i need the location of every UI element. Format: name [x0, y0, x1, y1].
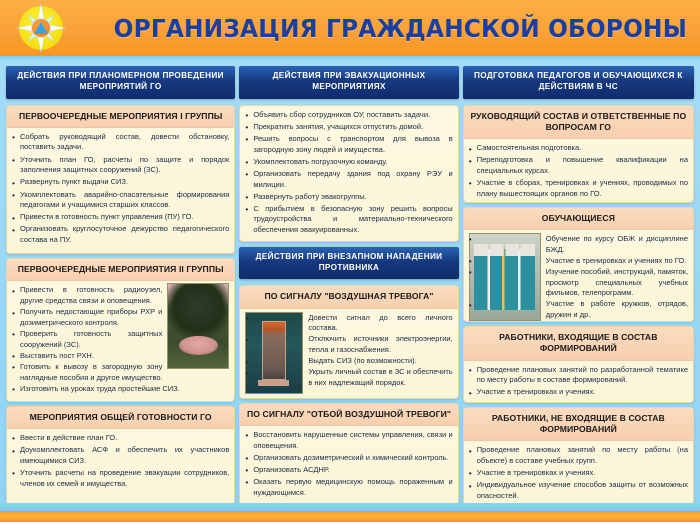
list-item: Укомплектовать аварийно-спасательные фор…: [12, 190, 229, 211]
list-item: Выдать СИЗ (по возможности).: [245, 356, 452, 367]
list-item: Довести сигнал до всего личного состава.: [245, 313, 452, 334]
column-2-banner: ДЕЙСТВИЯ ПРИ ЭВАКУАЦИОННЫХ МЕРОПРИЯТИЯХ: [239, 66, 458, 99]
list-item: Организовать АСДНР.: [245, 465, 452, 476]
list-item: Проверить готовность защитных сооружений…: [12, 329, 229, 350]
list-item: Участие в сборах, тренировках и учениях,…: [469, 178, 688, 199]
poster-root: ОРГАНИЗАЦИЯ ГРАЖДАНСКОЙ ОБОРОНЫ ДЕЙСТВИЯ…: [0, 0, 700, 525]
section-heading: РАБОТНИКИ, НЕ ВХОДЯЩИЕ В СОСТАВ ФОРМИРОВ…: [464, 408, 693, 441]
list-item: Собрать руководящий состав, довести обст…: [12, 132, 229, 153]
bullet-list: Самостоятельная подготовка. Переподготов…: [464, 139, 693, 203]
card-first-priority-group-2: ПЕРВООЧЕРЕДНЫЕ МЕРОПРИЯТИЯ II ГРУППЫ При…: [6, 258, 235, 402]
list-item: Организовать передачу здания под охрану …: [245, 169, 452, 190]
section-heading: ПЕРВООЧЕРЕДНЫЕ МЕРОПРИЯТИЯ II ГРУППЫ: [7, 259, 234, 281]
bullet-list: Собрать руководящий состав, довести обст…: [7, 128, 234, 249]
bullet-list: Проведение плановых занятий по месту раб…: [464, 441, 693, 505]
list-item: Доукомплектовать АСФ и обеспечить их уча…: [12, 445, 229, 466]
content-columns: ДЕЙСТВИЯ ПРИ ПЛАНОМЕРНОМ ПРОВЕДЕНИИ МЕРО…: [0, 61, 700, 505]
list-item: Организовать круглосуточное дежурство пе…: [12, 224, 229, 245]
card-air-raid-alarm: ПО СИГНАЛУ "ВОЗДУШНАЯ ТРЕВОГА" Довести с…: [239, 285, 458, 398]
list-item: Участие в тренировках и учениях по ГО.: [469, 256, 688, 267]
list-item: Укрыть личный состав в ЗС и обеспечить в…: [245, 367, 452, 388]
section-heading: МЕРОПРИЯТИЯ ОБЩЕЙ ГОТОВНОСТИ ГО: [7, 407, 234, 429]
list-item: Проведение плановых занятий по месту раб…: [469, 445, 688, 466]
bullet-list: Ввести в действие план ГО. Доукомплектов…: [7, 429, 234, 493]
section-heading: ОБУЧАЮЩИЕСЯ: [464, 208, 693, 230]
section-heading: ПО СИГНАЛУ "ВОЗДУШНАЯ ТРЕВОГА": [240, 286, 457, 308]
list-item: Участие в тренировках и учениях.: [469, 468, 688, 479]
column-planned-measures: ДЕЙСТВИЯ ПРИ ПЛАНОМЕРНОМ ПРОВЕДЕНИИ МЕРО…: [6, 65, 235, 505]
list-item: Изучение пособий, инструкций, памяток, п…: [469, 267, 688, 299]
footer-blue-bar: [0, 503, 700, 511]
card-general-readiness-measures: МЕРОПРИЯТИЯ ОБЩЕЙ ГОТОВНОСТИ ГО Ввести в…: [6, 406, 235, 505]
column-3-banner-wrap: ПОДГОТОВКА ПЕДАГОГОВ И ОБУЧАЮЩИХСЯ К ДЕЙ…: [463, 65, 694, 101]
column-training: ПОДГОТОВКА ПЕДАГОГОВ И ОБУЧАЮЩИХСЯ К ДЕЙ…: [463, 65, 694, 505]
list-item: Уточнить расчеты на проведение эвакуации…: [12, 468, 229, 489]
card-evacuation-actions: Объявить сбор сотрудников ОУ, поставить …: [239, 105, 458, 242]
card-all-clear-signal: ПО СИГНАЛУ "ОТБОЙ ВОЗДУШНОЙ ТРЕВОГИ" Вос…: [239, 403, 458, 505]
card-workers-not-in-formations: РАБОТНИКИ, НЕ ВХОДЯЩИЕ В СОСТАВ ФОРМИРОВ…: [463, 407, 694, 505]
list-item: Обучение по курсу ОБЖ и дисциплине БЖД.: [469, 234, 688, 255]
card-first-priority-group-1: ПЕРВООЧЕРЕДНЫЕ МЕРОПРИЯТИЯ I ГРУППЫ Собр…: [6, 105, 235, 255]
column-2-banner-sudden-attack: ДЕЙСТВИЯ ПРИ ВНЕЗАПНОМ НАПАДЕНИИ ПРОТИВН…: [239, 247, 458, 280]
list-item: Выставить пост РХН.: [12, 351, 229, 362]
list-item: Решить вопросы с транспортом для вывоза …: [245, 134, 452, 155]
list-item: Индивидуальное изучение способов защиты …: [469, 480, 688, 501]
list-item: Укомплектовать погрузочную команду.: [245, 157, 452, 168]
list-item: Переподготовка и повышение квалификации …: [469, 155, 688, 176]
emercom-emblem-icon: [14, 3, 68, 53]
emblem-blue-triangle-icon: [34, 22, 48, 34]
footer-orange-bar: [0, 511, 700, 522]
list-item: Уточнить план ГО, расчеты по защите и по…: [12, 155, 229, 176]
card-management-staff: РУКОВОДЯЩИЙ СОСТАВ И ОТВЕТСТВЕННЫЕ ПО ВО…: [463, 105, 694, 203]
list-item: Восстановить нарушенные системы управлен…: [245, 430, 452, 451]
list-item: Развернуть пункт выдачи СИЗ.: [12, 177, 229, 188]
column-2-banner-wrap: ДЕЙСТВИЯ ПРИ ЭВАКУАЦИОННЫХ МЕРОПРИЯТИЯХ: [239, 65, 458, 101]
list-item: Изготовить на уроках труда простейшие СИ…: [12, 384, 229, 395]
column-2-banner2-wrap: ДЕЙСТВИЯ ПРИ ВНЕЗАПНОМ НАПАДЕНИИ ПРОТИВН…: [239, 246, 458, 282]
list-item: С прибытием в безопасную зону решить воп…: [245, 204, 452, 236]
list-item: Прекратить занятия, учащихся отпустить д…: [245, 122, 452, 133]
section-heading: ПО СИГНАЛУ "ОТБОЙ ВОЗДУШНОЙ ТРЕВОГИ": [240, 404, 457, 426]
column-3-banner: ПОДГОТОВКА ПЕДАГОГОВ И ОБУЧАЮЩИХСЯ К ДЕЙ…: [463, 66, 694, 99]
list-item: Развернуть работу эвакогруппы.: [245, 192, 452, 203]
bullet-list: Объявить сбор сотрудников ОУ, поставить …: [240, 106, 457, 240]
card-students: ОБУЧАЮЩИЕСЯ Обучение по курсу ОБЖ и дисц…: [463, 207, 694, 323]
section-body-with-photo: Обучение по курсу ОБЖ и дисциплине БЖД. …: [464, 230, 693, 322]
poster-header: ОРГАНИЗАЦИЯ ГРАЖДАНСКОЙ ОБОРОНЫ: [0, 0, 700, 56]
bullet-list: Обучение по курсу ОБЖ и дисциплине БЖД. …: [464, 230, 693, 322]
bullet-list: Проведение плановых занятий по разработа…: [464, 361, 693, 402]
section-body-with-photo: Довести сигнал до всего личного состава.…: [240, 309, 457, 396]
card-workers-in-formations: РАБОТНИКИ, ВХОДЯЩИЕ В СОСТАВ ФОРМИРОВАНИ…: [463, 326, 694, 403]
list-item: Готовить к вывозу в загородную зону нагл…: [12, 362, 229, 383]
column-evacuation-measures: ДЕЙСТВИЯ ПРИ ЭВАКУАЦИОННЫХ МЕРОПРИЯТИЯХ …: [239, 65, 458, 505]
list-item: Получить недостающие приборы РХР и дозим…: [12, 307, 229, 328]
list-item: Участие в работе кружков, отрядов, дружи…: [469, 299, 688, 320]
list-item: Отключить источники электроэнергии, тепл…: [245, 334, 452, 355]
list-item: Привести в готовность радиоузел, другие …: [12, 285, 229, 306]
section-heading: ПЕРВООЧЕРЕДНЫЕ МЕРОПРИЯТИЯ I ГРУППЫ: [7, 106, 234, 128]
section-body-with-photo: Привести в готовность радиоузел, другие …: [7, 281, 234, 396]
bullet-list: Привести в готовность радиоузел, другие …: [7, 281, 234, 396]
section-heading: РАБОТНИКИ, ВХОДЯЩИЕ В СОСТАВ ФОРМИРОВАНИ…: [464, 327, 693, 360]
bullet-list: Восстановить нарушенные системы управлен…: [240, 426, 457, 502]
list-item: Самостоятельная подготовка.: [469, 143, 688, 154]
column-1-banner: ДЕЙСТВИЯ ПРИ ПЛАНОМЕРНОМ ПРОВЕДЕНИИ МЕРО…: [6, 66, 235, 99]
section-heading: РУКОВОДЯЩИЙ СОСТАВ И ОТВЕТСТВЕННЫЕ ПО ВО…: [464, 106, 693, 139]
list-item: Организовать дозиметрический и химически…: [245, 453, 452, 464]
list-item: Объявить сбор сотрудников ОУ, поставить …: [245, 110, 452, 121]
list-item: Ввести в действие план ГО.: [12, 433, 229, 444]
column-1-banner-wrap: ДЕЙСТВИЯ ПРИ ПЛАНОМЕРНОМ ПРОВЕДЕНИИ МЕРО…: [6, 65, 235, 101]
list-item: Оказать первую медицинскую помощь пораже…: [245, 477, 452, 498]
list-item: Привести в готовность пункт управления (…: [12, 212, 229, 223]
list-item: Проведение плановых занятий по разработа…: [469, 365, 688, 386]
list-item: Участие в тренировках и учениях.: [469, 387, 688, 398]
bullet-list: Довести сигнал до всего личного состава.…: [240, 309, 457, 391]
page-title: ОРГАНИЗАЦИЯ ГРАЖДАНСКОЙ ОБОРОНЫ: [112, 16, 700, 41]
